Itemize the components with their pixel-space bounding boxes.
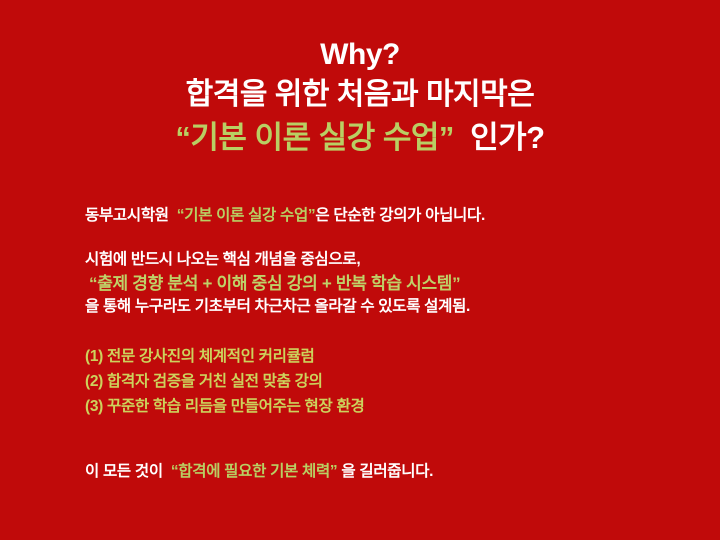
headline-why: Why?: [0, 36, 720, 74]
headline-quoted-phrase: “기본 이론 실강 수업”: [175, 120, 454, 155]
closing-quote: “합격에 필요한 기본 체력”: [171, 463, 338, 480]
spacer-before-closing: [85, 419, 685, 445]
body-block: 동부고시학원 “기본 이론 실강 수업”은 단순한 강의가 아닙니다. 시험에 …: [85, 205, 685, 483]
list-item: (3) 꾸준한 학습 리듬을 만들어주는 현장 환경: [85, 394, 685, 419]
intro-paragraph: 동부고시학원 “기본 이론 실강 수업”은 단순한 강의가 아닙니다.: [85, 205, 685, 227]
headline-question-tail: 인가?: [454, 120, 545, 155]
promo-slide: Why? 합격을 위한 처음과 마지막은 “기본 이론 실강 수업” 인가? 동…: [0, 0, 720, 540]
headline-subtitle: 합격을 위한 처음과 마지막은: [0, 74, 720, 117]
method-line-3: 을 통해 누구라도 기초부터 차근차근 올라갈 수 있도록 설계됨.: [85, 296, 685, 318]
list-item: (1) 전문 강사진의 체계적인 커리큘럼: [85, 344, 685, 369]
closing-post: 을 길러줍니다.: [341, 463, 433, 480]
spacer-after-intro: [85, 227, 685, 249]
method-system-quote: “출제 경향 분석 + 이해 중심 강의 + 반복 학습 시스템”: [85, 271, 685, 296]
headline-question: “기본 이론 실강 수업” 인가?: [0, 116, 720, 160]
spacer-before-list: [85, 318, 685, 344]
list-item: (2) 합격자 검증을 거친 실전 맞춤 강의: [85, 369, 685, 394]
spacer-before-closing-extra: [85, 445, 685, 461]
closing-paragraph: 이 모든 것이 “합격에 필요한 기본 체력” 을 길러줍니다.: [85, 461, 685, 483]
method-line-1: 시험에 반드시 나오는 핵심 개념을 중심으로,: [85, 249, 685, 271]
intro-academy-name: 동부고시학원: [85, 207, 169, 224]
heading-block: Why? 합격을 위한 처음과 마지막은 “기본 이론 실강 수업” 인가?: [0, 36, 720, 160]
intro-tail: 은 단순한 강의가 아닙니다.: [315, 207, 485, 224]
closing-pre: 이 모든 것이: [85, 463, 163, 480]
intro-course-quote: “기본 이론 실강 수업”: [177, 207, 316, 224]
